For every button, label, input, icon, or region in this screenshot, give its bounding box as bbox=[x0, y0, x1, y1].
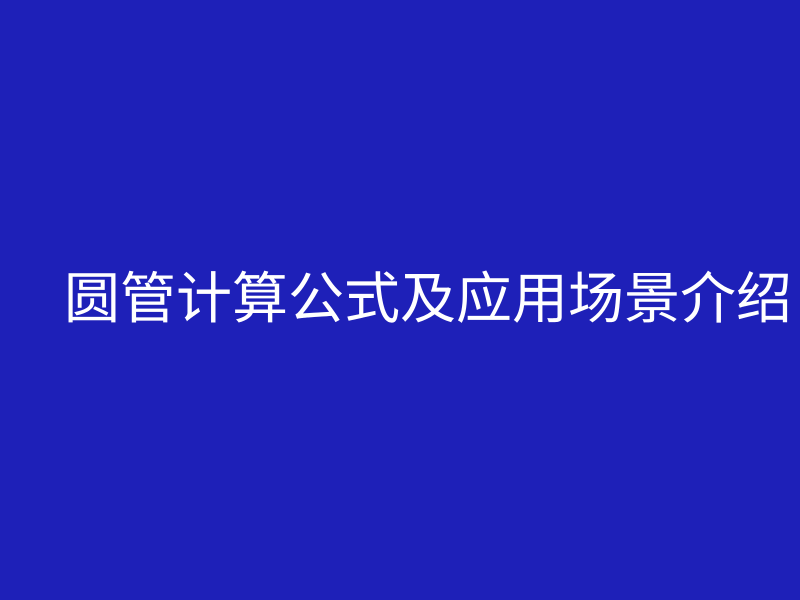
title-block: 圆管计算公式及应用场景介绍 bbox=[0, 0, 800, 600]
title-slide: 圆管计算公式及应用场景介绍 bbox=[0, 0, 800, 600]
slide-title: 圆管计算公式及应用场景介绍 bbox=[0, 270, 792, 330]
